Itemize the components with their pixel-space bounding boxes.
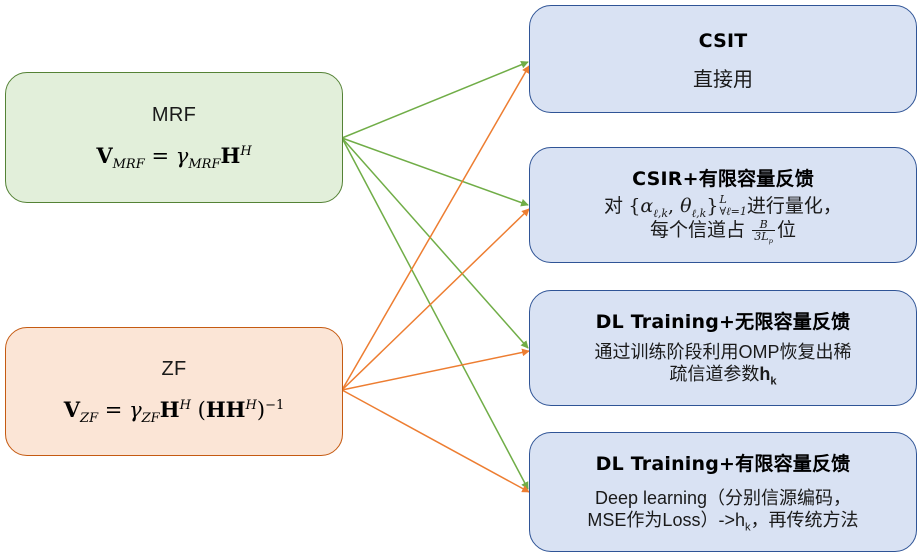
node-zf-formula: VZF = γZFHH (HHH)−1	[64, 399, 285, 421]
arrows-from-mrf	[342, 62, 528, 489]
node-csit[interactable]: CSIT 直接用	[529, 5, 917, 113]
arrow-zf-to-csit	[342, 66, 529, 390]
node-dl-training-unlimited[interactable]: DL Training+无限容量反馈 通过训练阶段利用OMP恢复出稀 疏信道参数…	[529, 290, 917, 406]
dl-lim-text-suffix: ，再传统方法	[751, 510, 859, 530]
csir-fraction: B3Lp	[752, 219, 775, 243]
arrow-zf-to-dl-lim	[342, 390, 529, 492]
arrow-mrf-to-csit	[342, 62, 528, 138]
arrow-zf-to-dl-inf	[342, 351, 529, 390]
dl-inf-symbol-h: hk	[759, 364, 776, 384]
diagram-canvas: MRF VMRF = γMRFHH ZF VZF = γZFHH (HHH)−1…	[0, 0, 921, 559]
node-mrf-formula: VMRF = γMRFHH	[96, 145, 251, 167]
node-zf[interactable]: ZF VZF = γZFHH (HHH)−1	[5, 327, 343, 456]
node-dl-inf-body-line2: 疏信道参数hk	[595, 363, 852, 386]
csir-text-suffix: 进行量化，	[747, 196, 842, 217]
dl-lim-text-prefix: MSE作为Loss）->	[587, 510, 735, 530]
csir-text-bits: 位	[777, 220, 796, 241]
node-mrf-title: MRF	[152, 104, 196, 127]
node-zf-title: ZF	[161, 358, 186, 381]
csir-set-math: {αℓ,k, θℓ,k}L∀ℓ=1	[628, 195, 747, 217]
node-dl-inf-body-line1: 通过训练阶段利用OMP恢复出稀	[595, 341, 852, 364]
dl-lim-symbol-h: hk	[735, 510, 751, 530]
node-dl-lim-body-line1: Deep learning（分别信源编码，	[587, 487, 858, 510]
arrow-mrf-to-csir	[342, 138, 528, 205]
arrow-mrf-to-dl-inf	[342, 138, 528, 348]
node-dl-training-unlimited-title: DL Training+无限容量反馈	[596, 312, 851, 333]
arrow-mrf-to-dl-lim	[342, 138, 528, 489]
node-csir-body-line2: 每个信道占 B3Lp位	[604, 219, 842, 243]
arrows-from-zf	[342, 66, 529, 492]
node-dl-training-limited-title: DL Training+有限容量反馈	[596, 454, 851, 475]
node-csir-body-line1: 对 {αℓ,k, θℓ,k}L∀ℓ=1进行量化，	[604, 194, 842, 219]
dl-inf-text: 疏信道参数	[669, 364, 759, 384]
arrow-zf-to-csir	[342, 209, 529, 390]
csir-text-prefix: 对	[604, 196, 628, 217]
node-csit-body: 直接用	[683, 68, 763, 93]
csir-text-perchannel: 每个信道占	[650, 220, 750, 241]
node-dl-training-unlimited-body: 通过训练阶段利用OMP恢复出稀 疏信道参数hk	[585, 341, 862, 386]
node-dl-training-limited-body: Deep learning（分别信源编码， MSE作为Loss）->hk，再传统…	[577, 487, 868, 532]
node-csir-body: 对 {αℓ,k, θℓ,k}L∀ℓ=1进行量化， 每个信道占 B3Lp位	[594, 194, 852, 244]
node-mrf[interactable]: MRF VMRF = γMRFHH	[5, 72, 343, 203]
node-dl-lim-body-line2: MSE作为Loss）->hk，再传统方法	[587, 509, 858, 532]
node-csit-title: CSIT	[699, 31, 748, 52]
node-csir-title: CSIR+有限容量反馈	[632, 169, 814, 190]
node-dl-training-limited[interactable]: DL Training+有限容量反馈 Deep learning（分别信源编码，…	[529, 432, 917, 552]
node-csir[interactable]: CSIR+有限容量反馈 对 {αℓ,k, θℓ,k}L∀ℓ=1进行量化， 每个信…	[529, 147, 917, 263]
